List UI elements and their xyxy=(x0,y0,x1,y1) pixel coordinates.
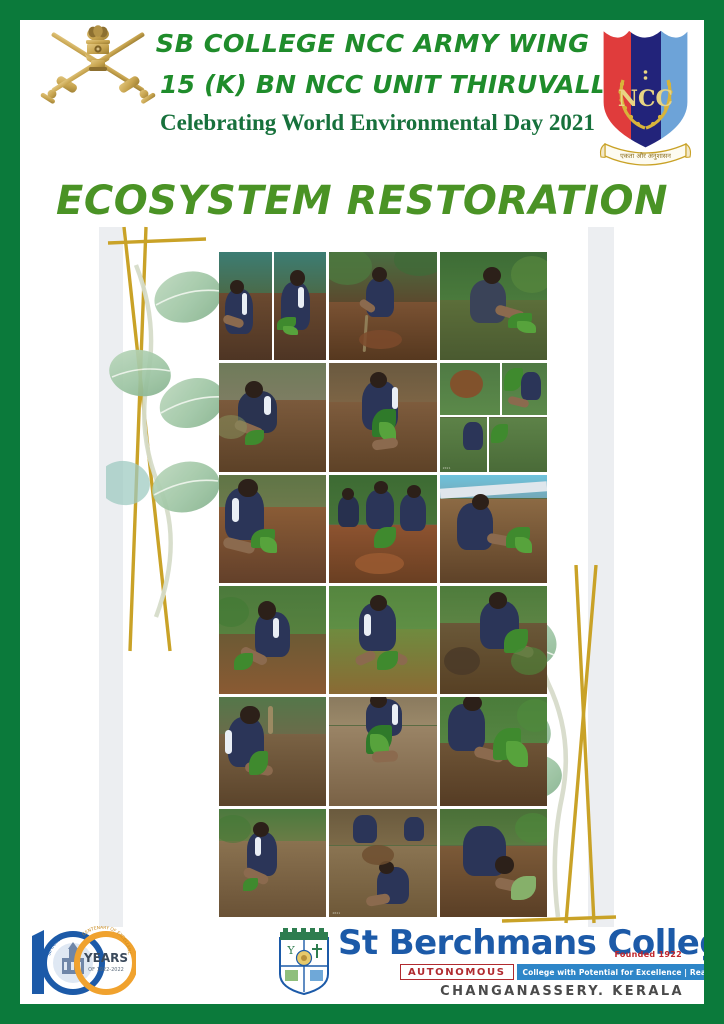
college-name-block: St Berchmans College Founded 1922 AUTONO… xyxy=(338,924,698,962)
accreditation-badge: College with Potential for Excellence | … xyxy=(517,964,704,980)
collage-photo[interactable] xyxy=(440,809,547,917)
college-location: CHANGANASSERY. KERALA xyxy=(440,984,684,999)
event-subtitle: Celebrating World Environmental Day 2021 xyxy=(160,108,580,138)
collage-photo[interactable]: 2021 xyxy=(329,809,436,917)
header-title-block: SB COLLEGE NCC ARMY WING 15 (K) BN NCC U… xyxy=(160,24,580,138)
college-founded: Founded 1922 xyxy=(614,950,682,959)
collage-photo[interactable] xyxy=(329,697,436,805)
ncc-motto-text: एकता और अनुशासन xyxy=(620,152,671,160)
ncc-crest-icon: NCC एकता और अनुशासन xyxy=(593,24,698,169)
collage-photo[interactable] xyxy=(329,363,436,471)
collage-photo[interactable] xyxy=(219,252,326,360)
collage-photo[interactable] xyxy=(219,586,326,694)
collage-photo[interactable] xyxy=(219,697,326,805)
leafy-vine-left-icon xyxy=(106,225,236,655)
centenary-logo-icon: YEARS OF 1922-2022 SB COLLEGE CHANGANASS… xyxy=(26,926,136,1000)
background-panel-left xyxy=(99,227,123,927)
centenary-years-label: YEARS xyxy=(83,951,128,965)
photo-timestamp: 2021 xyxy=(332,911,340,915)
st-berchmans-college-logo: Y St Berchmans College Founded 1922 AUTO… xyxy=(276,924,701,1004)
collage-photo[interactable] xyxy=(440,586,547,694)
poster-footer: YEARS OF 1922-2022 SB COLLEGE CHANGANASS… xyxy=(20,920,704,1004)
collage-photo[interactable] xyxy=(440,475,547,583)
ncc-crest-label: NCC xyxy=(618,86,673,112)
college-badges: AUTONOMOUS College with Potential for Ex… xyxy=(400,964,704,980)
photo-collage: 2021 xyxy=(219,252,547,917)
collage-photo[interactable] xyxy=(440,697,547,805)
background-panel-right xyxy=(588,227,614,927)
collage-photo[interactable] xyxy=(329,586,436,694)
poster-main-title: ECOSYSTEM RESTORATION xyxy=(20,178,704,224)
svg-text:Y: Y xyxy=(286,944,295,957)
collage-photo[interactable]: 2021 xyxy=(440,363,547,471)
centenary-years-range: OF 1922-2022 xyxy=(88,967,124,973)
collage-photo[interactable] xyxy=(329,475,436,583)
indian-army-emblem-icon xyxy=(28,22,168,137)
org-title-line1: SB COLLEGE NCC ARMY WING xyxy=(156,24,584,64)
collage-photo[interactable] xyxy=(440,252,547,360)
poster-header: SB COLLEGE NCC ARMY WING 15 (K) BN NCC U… xyxy=(20,20,704,170)
collage-photo[interactable] xyxy=(219,475,326,583)
poster-page: SB COLLEGE NCC ARMY WING 15 (K) BN NCC U… xyxy=(20,20,704,1004)
poster-root: SB COLLEGE NCC ARMY WING 15 (K) BN NCC U… xyxy=(0,0,724,1024)
collage-photo[interactable] xyxy=(329,252,436,360)
org-title-line2: 15 (K) BN NCC UNIT THIRUVALLA xyxy=(160,64,580,106)
collage-photo[interactable] xyxy=(219,363,326,471)
autonomous-badge: AUTONOMOUS xyxy=(400,964,514,980)
collage-photo[interactable] xyxy=(219,809,326,917)
photo-timestamp: 2021 xyxy=(443,466,451,470)
college-crest-icon: Y xyxy=(276,928,332,996)
